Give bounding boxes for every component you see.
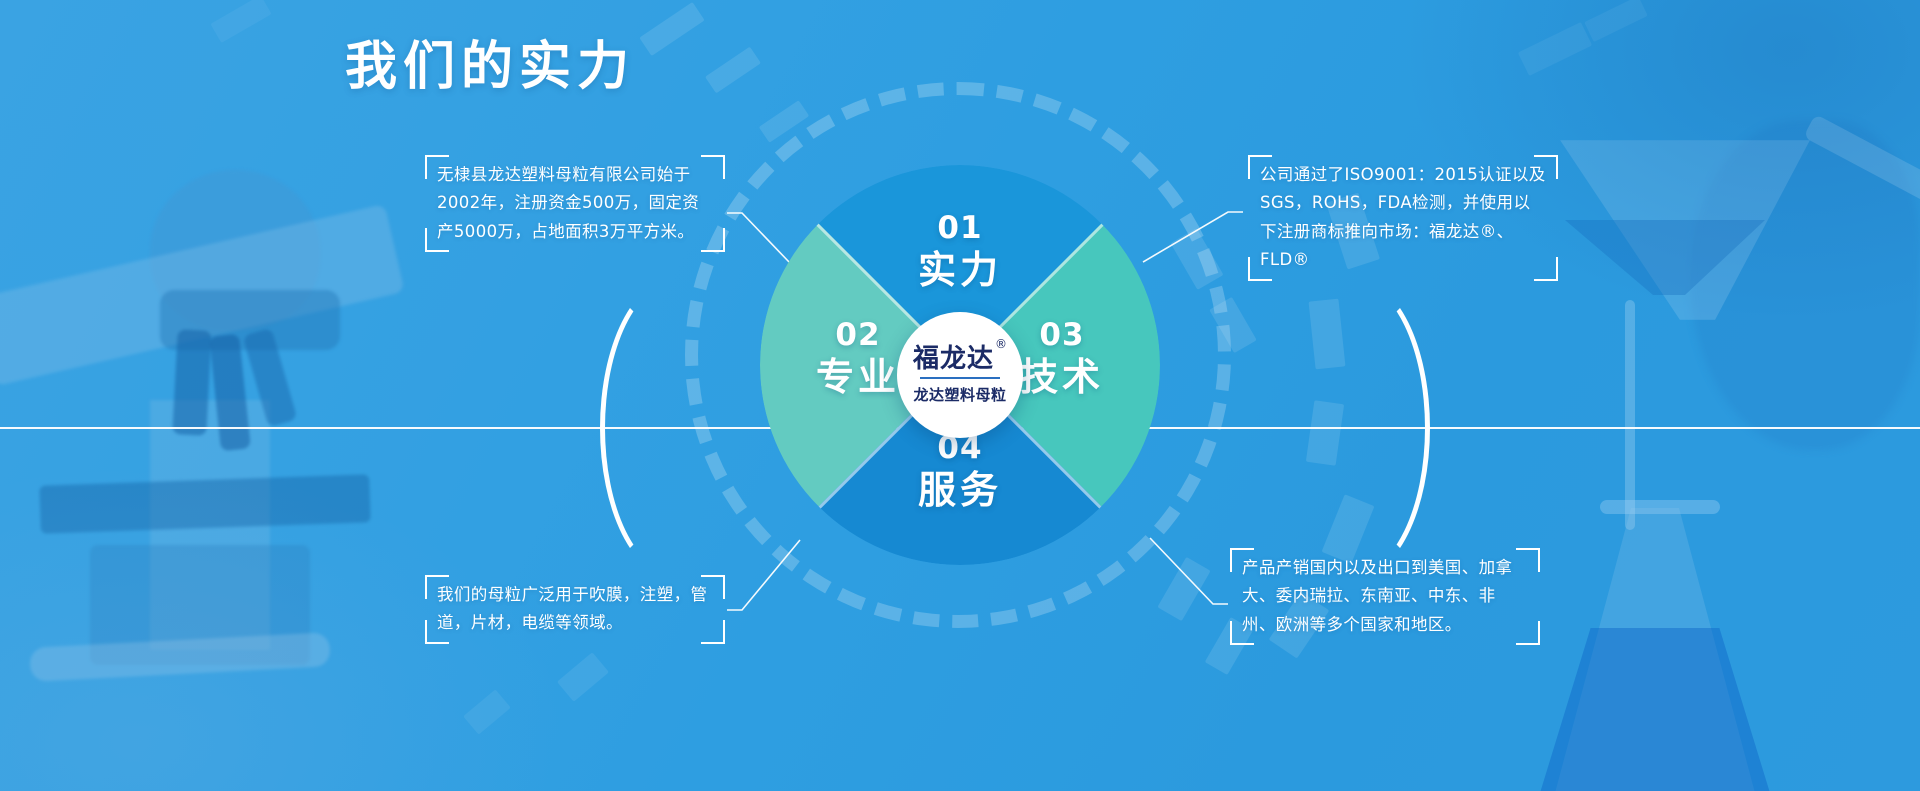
logo-brand-text: 福龙达 [913,344,994,374]
corner-bracket-top-left-icon [1248,155,1272,179]
corner-bracket-top-right-icon [701,575,725,599]
corner-bracket-top-right-icon [1516,548,1540,572]
quadrant-text-04: 服务 [880,471,1040,510]
logo-divider [920,377,1000,379]
corner-bracket-bottom-left-icon [1230,621,1254,645]
corner-bracket-bottom-right-icon [701,228,725,252]
quadrant-text-01: 实力 [880,251,1040,290]
info-block-top-left: 无棣县龙达塑料母粒有限公司始于2002年，注册资金500万，固定资产5000万，… [425,155,725,252]
logo-subtitle: 龙达塑料母粒 [913,384,1006,405]
quadrant-label-04: 04 服务 [880,433,1040,509]
center-logo[interactable]: 福龙达® 龙达塑料母粒 [897,312,1023,438]
corner-bracket-bottom-right-icon [1516,621,1540,645]
corner-bracket-bottom-left-icon [425,228,449,252]
info-block-bottom-left: 我们的母粒广泛用于吹膜，注塑，管道，片材，电缆等领域。 [425,575,725,644]
info-text-bottom-left: 我们的母粒广泛用于吹膜，注塑，管道，片材，电缆等领域。 [425,575,725,644]
info-text-top-left: 无棣县龙达塑料母粒有限公司始于2002年，注册资金500万，固定资产5000万，… [425,155,725,252]
corner-bracket-top-left-icon [425,155,449,179]
infographic-stage: 我们的实力 01 实力 [0,0,1920,791]
pie-chart: 01 实力 02 专业 03 技术 04 服务 福龙达® 龙达塑料母粒 [760,165,1160,565]
info-block-top-right: 公司通过了ISO9001：2015认证以及SGS，ROHS，FDA检测，并使用以… [1248,155,1558,281]
corner-bracket-bottom-left-icon [1248,257,1272,281]
info-text-bottom-right: 产品产销国内以及出口到美国、加拿大、委内瑞拉、东南亚、中东、非州、欧洲等多个国家… [1230,548,1540,645]
corner-bracket-top-left-icon [425,575,449,599]
corner-bracket-top-right-icon [701,155,725,179]
quadrant-number-01: 01 [880,213,1040,245]
right-arc-bracket [1280,278,1430,578]
quadrant-diagram: 01 实力 02 专业 03 技术 04 服务 福龙达® 龙达塑料母粒 [760,155,1160,575]
logo-brand-name: 福龙达® [913,346,1007,372]
left-arc-bracket [600,278,750,578]
corner-bracket-bottom-right-icon [1534,257,1558,281]
corner-bracket-top-left-icon [1230,548,1254,572]
registered-trademark-icon: ® [995,337,1008,351]
corner-bracket-top-right-icon [1534,155,1558,179]
corner-bracket-bottom-right-icon [701,620,725,644]
info-text-top-right: 公司通过了ISO9001：2015认证以及SGS，ROHS，FDA检测，并使用以… [1248,155,1558,281]
quadrant-label-01: 01 实力 [880,213,1040,289]
info-block-bottom-right: 产品产销国内以及出口到美国、加拿大、委内瑞拉、东南亚、中东、非州、欧洲等多个国家… [1230,548,1540,645]
corner-bracket-bottom-left-icon [425,620,449,644]
connector-bottom-right [1150,538,1228,604]
